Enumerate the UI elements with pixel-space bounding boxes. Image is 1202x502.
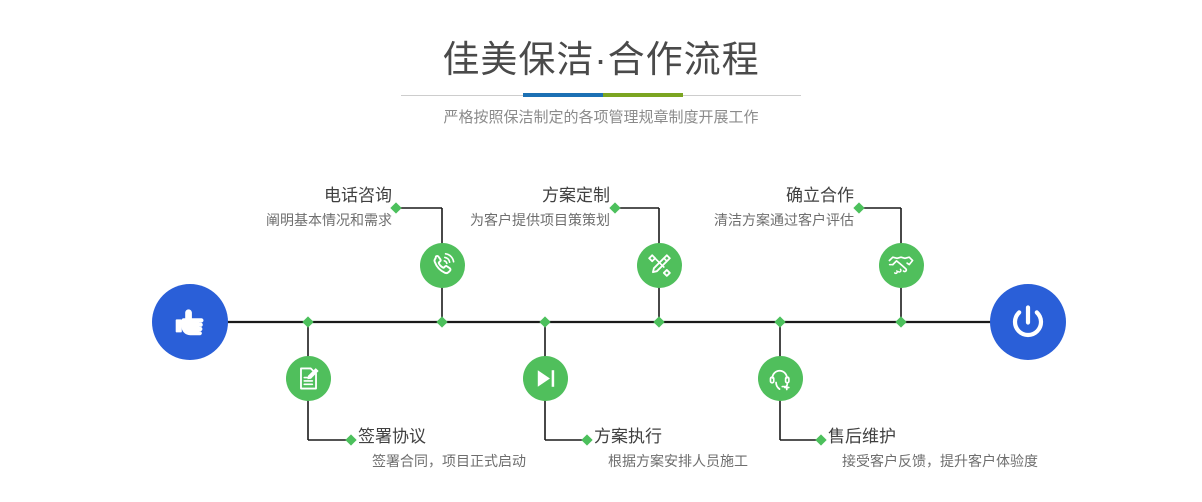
timeline-finish-node[interactable] bbox=[990, 284, 1066, 360]
timeline-diagram: 电话咨询 阐明基本情况和需求 签署协议 签署合同，项目正式启动 bbox=[0, 0, 1202, 502]
process-flow-infographic: 佳美保洁·合作流程 严格按照保洁制定的各项管理规章制度开展工作 bbox=[0, 0, 1202, 502]
power-icon bbox=[1005, 299, 1051, 345]
step-label-3: 方案定制 为客户提供项目策策划 bbox=[360, 185, 610, 230]
headset-support-icon bbox=[767, 365, 794, 392]
handshake-icon bbox=[887, 251, 915, 279]
diamond-step-6-axis bbox=[774, 316, 785, 327]
play-execute-icon bbox=[532, 365, 559, 392]
step-description-5: 清洁方案通过客户评估 bbox=[604, 210, 854, 230]
step-icon-1[interactable] bbox=[420, 243, 465, 288]
step-icon-5[interactable] bbox=[879, 243, 924, 288]
step-description-3: 为客户提供项目策策划 bbox=[360, 210, 610, 230]
diamond-step-5-label bbox=[853, 202, 864, 213]
step-icon-6[interactable] bbox=[758, 356, 803, 401]
diamond-step-4-axis bbox=[539, 316, 550, 327]
diamond-step-5-axis bbox=[895, 316, 906, 327]
timeline-start-node[interactable] bbox=[152, 284, 228, 360]
step-label-1: 电话咨询 阐明基本情况和需求 bbox=[142, 185, 392, 230]
pencil-ruler-icon bbox=[646, 252, 673, 279]
step-title-5: 确立合作 bbox=[604, 185, 854, 207]
step-label-6: 售后维护 接受客户反馈，提升客户体验度 bbox=[828, 426, 1148, 471]
diamond-step-3-axis bbox=[653, 316, 664, 327]
step-icon-4[interactable] bbox=[523, 356, 568, 401]
step-icon-3[interactable] bbox=[637, 243, 682, 288]
step-description-1: 阐明基本情况和需求 bbox=[142, 210, 392, 230]
step-title-6: 售后维护 bbox=[828, 426, 1148, 448]
step-description-6: 接受客户反馈，提升客户体验度 bbox=[828, 451, 1148, 471]
diamond-step-2-axis bbox=[302, 316, 313, 327]
step-title-3: 方案定制 bbox=[360, 185, 610, 207]
step-icon-2[interactable] bbox=[286, 356, 331, 401]
phone-call-icon bbox=[429, 252, 456, 279]
step-label-5: 确立合作 清洁方案通过客户评估 bbox=[604, 185, 854, 230]
diamond-step-2-label bbox=[345, 434, 356, 445]
document-pencil-icon bbox=[295, 365, 322, 392]
step-title-1: 电话咨询 bbox=[142, 185, 392, 207]
diamond-step-1-axis bbox=[436, 316, 447, 327]
pointing-hand-icon bbox=[168, 300, 212, 344]
